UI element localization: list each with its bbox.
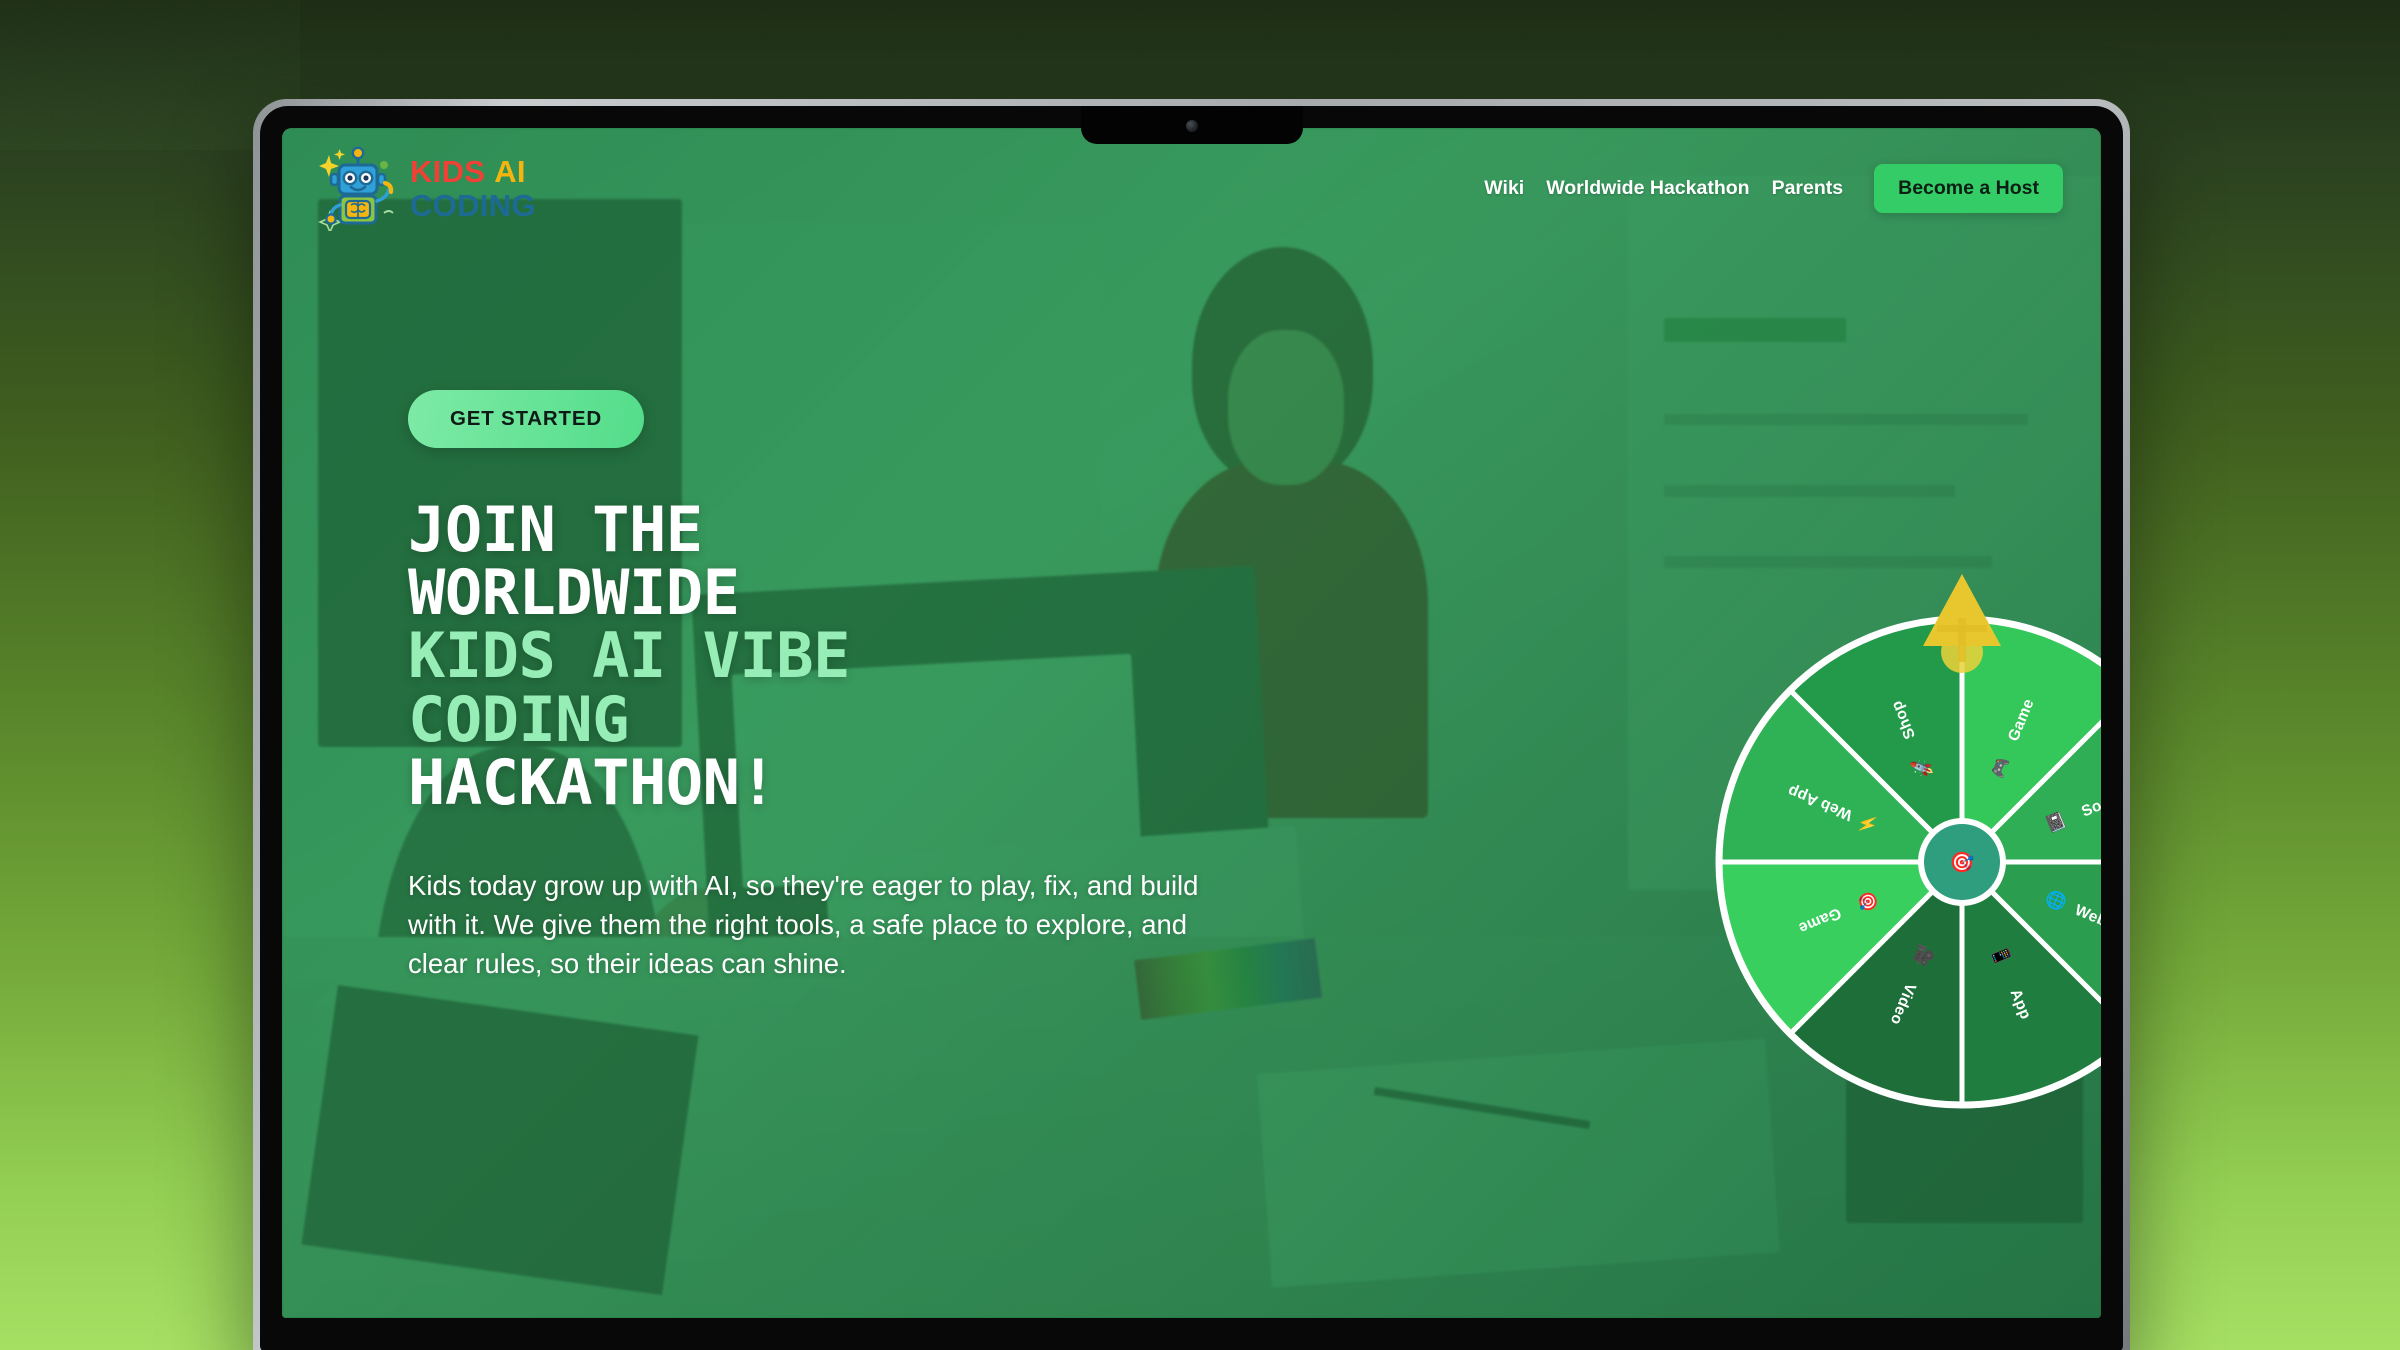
- page-title: JOIN THEWORLDWIDEKIDS AI VIBECODINGHACKA…: [408, 498, 1228, 814]
- nav-link-worldwide-hackathon[interactable]: Worldwide Hackathon: [1546, 177, 1749, 200]
- hero-section: GET STARTED JOIN THEWORLDWIDEKIDS AI VIB…: [408, 390, 1228, 983]
- browser-viewport: KIDS AI CODING Wiki Worldwide Hackathon …: [282, 128, 2101, 1318]
- headline-line-3: CODING: [408, 688, 1228, 751]
- site-header: KIDS AI CODING Wiki Worldwide Hackathon …: [282, 128, 2101, 248]
- laptop-notch: [1081, 106, 1303, 144]
- wheel-graphic[interactable]: 🎮Game📓Social🌐Website📱App🎥Video🎯Game⚡Web …: [1712, 612, 2101, 1112]
- page-background: KIDS AI CODING Wiki Worldwide Hackathon …: [0, 0, 2400, 1350]
- logo-kids-text: KIDS: [410, 154, 485, 189]
- hero-paragraph: Kids today grow up with AI, so they're e…: [408, 866, 1208, 983]
- robot-icon: [318, 145, 398, 231]
- become-a-host-button[interactable]: Become a Host: [1874, 164, 2063, 213]
- logo-ai-text: AI: [494, 154, 526, 189]
- headline-line-4: HACKATHON!: [408, 751, 1228, 814]
- laptop-device: KIDS AI CODING Wiki Worldwide Hackathon …: [253, 99, 2130, 1350]
- laptop-bezel: KIDS AI CODING Wiki Worldwide Hackathon …: [260, 106, 2123, 1350]
- spin-wheel[interactable]: 🎮Game📓Social🌐Website📱App🎥Video🎯Game⚡Web …: [1682, 568, 2101, 1128]
- get-started-button[interactable]: GET STARTED: [408, 390, 644, 448]
- camera-dot-icon: [1186, 120, 1198, 132]
- logo-coding-text: CODING: [410, 190, 536, 221]
- headline-line-0: JOIN THE: [408, 498, 1228, 561]
- wheel-pointer-icon: [1909, 568, 2015, 683]
- target-icon: 🎯: [1950, 851, 1975, 874]
- nav-link-wiki[interactable]: Wiki: [1484, 177, 1524, 200]
- headline-line-2: KIDS AI VIBE: [408, 624, 1228, 687]
- nav-link-parents[interactable]: Parents: [1772, 177, 1844, 200]
- logo-wordmark: KIDS AI CODING: [410, 156, 536, 221]
- headline-line-1: WORLDWIDE: [408, 561, 1228, 624]
- site-logo[interactable]: KIDS AI CODING: [318, 145, 536, 231]
- main-navigation: Wiki Worldwide Hackathon Parents Become …: [1484, 164, 2063, 213]
